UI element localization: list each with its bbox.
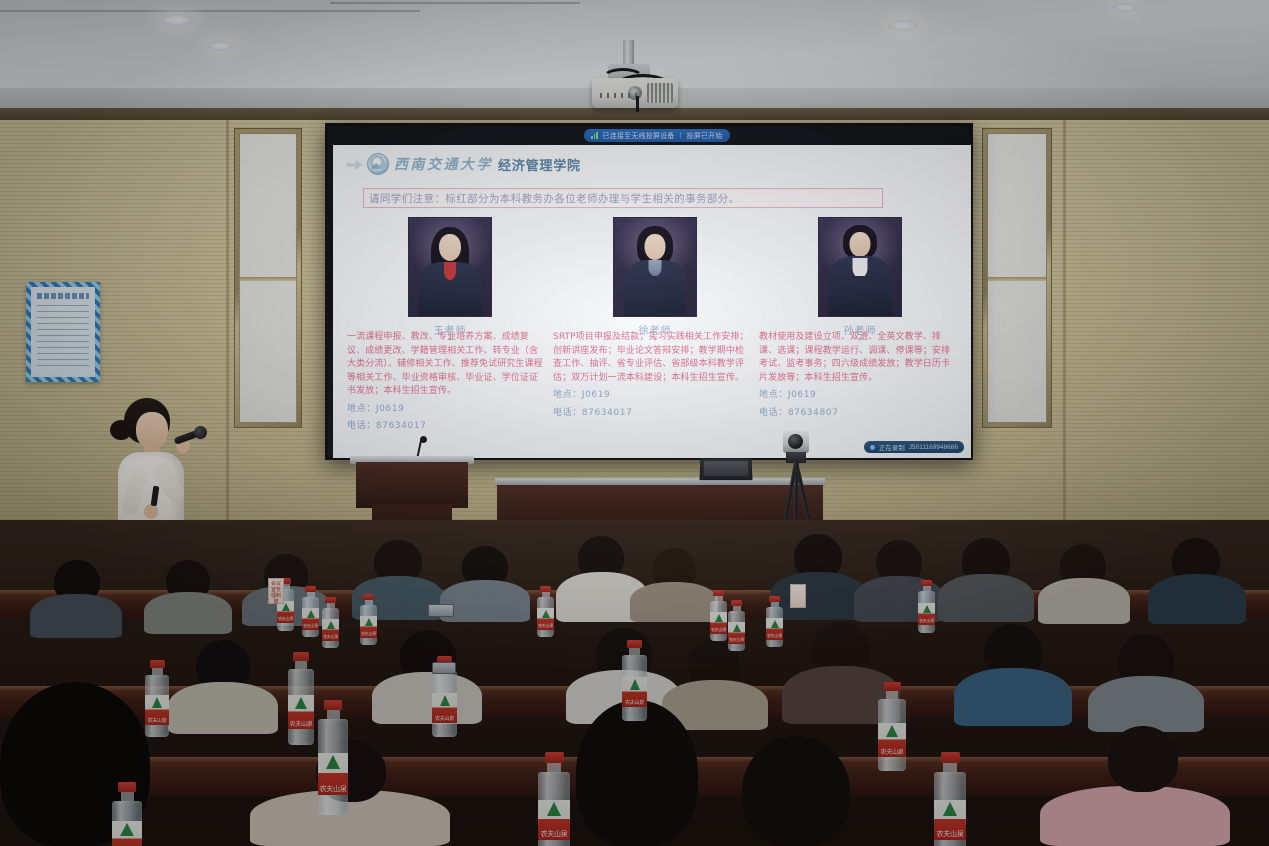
- whiteboard-panel-right: [982, 128, 1052, 428]
- ceiling-projector-icon: [592, 78, 678, 108]
- bottle-brand: 农夫山泉: [537, 623, 554, 629]
- pine-tree-icon: [715, 614, 723, 622]
- pine-tree-icon: [923, 605, 931, 613]
- bottle-label: 农夫山泉: [112, 821, 142, 846]
- bottle-brand: 农夫山泉: [432, 715, 457, 722]
- presenter-hand-left: [144, 504, 158, 519]
- water-bottle: 农夫山泉: [112, 782, 142, 846]
- duty-column-3: 教材使用及建设立项、双语、全英文教学、排课、选课；课程教学运行、调课、停课等；安…: [759, 331, 955, 434]
- portrait-row: 王老师 徐老师: [355, 217, 955, 341]
- pine-tree-icon: [630, 679, 640, 690]
- bottle-cap: [324, 700, 342, 710]
- duty-text-2: SRTP项目申报及结款；实习实践相关工作安排；创新讲座发布；毕业论文答辩安排；教…: [553, 331, 749, 385]
- duty-column-1: 一流课程申报、教改、专业培养方案、成绩复议、成绩更改、学籍管理相关工作、转专业（…: [347, 331, 543, 434]
- teacher-portrait-2: [613, 217, 697, 317]
- audience-head: [576, 700, 698, 846]
- teacher-portrait-3: [818, 217, 902, 317]
- bottle-body: 农夫山泉: [538, 772, 570, 846]
- audience-shoulders: [168, 682, 278, 734]
- bottle-body: 农夫山泉: [145, 675, 169, 737]
- pine-tree-icon: [307, 610, 315, 618]
- duty-text-1: 一流课程申报、教改、专业培养方案、成绩复议、成绩更改、学籍管理相关工作、转专业（…: [347, 331, 543, 399]
- microphone-head: [194, 426, 207, 439]
- whiteboard-surface-left: [239, 133, 297, 423]
- bottle-cap: [293, 652, 309, 661]
- bottle-body: 农夫山泉: [918, 591, 935, 633]
- university-seal-icon: [367, 153, 389, 175]
- pine-tree-icon: [943, 802, 957, 816]
- water-bottle: 农夫山泉: [145, 660, 169, 737]
- location-row-3: 地点：J0619: [759, 389, 955, 403]
- duty-text-3: 教材使用及建设立项、双语、全英文教学、排课、选课；课程教学运行、调课、停课等；安…: [759, 331, 955, 385]
- water-bottle: 农夫山泉: [934, 752, 966, 846]
- bottle-body: 农夫山泉: [537, 597, 554, 637]
- wall-poster: [26, 282, 100, 382]
- bottle-label: 农夫山泉: [934, 800, 966, 840]
- location-value-2: J0619: [582, 390, 611, 400]
- bottle-brand: 农夫山泉: [728, 637, 745, 643]
- water-bottle: 农夫山泉: [538, 752, 570, 846]
- pine-tree-icon: [440, 695, 450, 706]
- recessed-downlight-icon: [207, 41, 233, 51]
- bottle-label: 农夫山泉: [537, 608, 554, 630]
- water-bottle: 农夫山泉: [878, 682, 906, 771]
- recording-label: 正在录制: [879, 442, 905, 452]
- pine-tree-icon: [295, 697, 307, 709]
- audience-head: [742, 736, 850, 846]
- location-row-2: 地点：J0619: [553, 389, 749, 403]
- bottle-cap: [545, 752, 564, 763]
- university-name: 西南交通大学: [394, 154, 493, 174]
- bottle-label: 农夫山泉: [360, 616, 377, 638]
- bottle-label: 农夫山泉: [710, 612, 727, 634]
- audience-shoulders: [954, 668, 1072, 726]
- pine-tree-icon: [886, 725, 898, 737]
- location-label-3: 地点：: [759, 390, 788, 400]
- teacher-card-1: 王老师: [355, 217, 545, 341]
- teacher-card-2: 徐老师: [560, 217, 750, 341]
- duty-column-2: SRTP项目申报及结款；实习实践相关工作安排；创新讲座发布；毕业论文答辩安排；教…: [553, 331, 749, 434]
- name-card-text: 会议室管理制度: [269, 579, 283, 605]
- pine-tree-icon: [542, 610, 550, 618]
- phone-value-1: 87634017: [376, 421, 427, 431]
- desk-name-card: [790, 584, 806, 608]
- bottle-neck: [943, 763, 957, 772]
- bottle-body: 农夫山泉: [878, 699, 906, 771]
- bottle-cap: [627, 640, 642, 648]
- water-bottle: 农夫山泉: [710, 590, 727, 641]
- bottle-body: 农夫山泉: [934, 772, 966, 846]
- college-name: 经济管理学院: [498, 155, 581, 174]
- bottle-label: 农夫山泉: [302, 608, 319, 630]
- bottle-body: 农夫山泉: [432, 671, 457, 737]
- pine-tree-icon: [547, 802, 561, 816]
- notice-banner: 请同学们注意：标红部分为本科教务办各位老师办理与学生相关的事务部分。: [363, 188, 883, 208]
- recessed-downlight-icon: [1112, 3, 1138, 12]
- teacher-card-3: 孙老师: [765, 217, 955, 341]
- bottle-body: 农夫山泉: [318, 719, 348, 815]
- mobile-phone: [432, 662, 456, 674]
- bottle-body: 农夫山泉: [710, 601, 727, 641]
- bottle-body: 农夫山泉: [288, 669, 314, 745]
- laptop-screen: [704, 461, 749, 476]
- bottle-label: 农夫山泉: [318, 753, 348, 795]
- bottle-cap: [118, 782, 136, 792]
- tripod-camera-icon: [783, 431, 809, 453]
- phone-value-2: 87634017: [582, 408, 633, 418]
- lectern-icon: [356, 462, 468, 508]
- arrow-right-icon: [347, 157, 362, 171]
- phone-label-3: 电话：: [759, 408, 788, 418]
- location-value-1: J0619: [376, 404, 405, 414]
- bottle-label: 农夫山泉: [288, 695, 314, 729]
- bottle-neck: [121, 792, 134, 801]
- notification-secondary: 投屏已开始: [687, 131, 723, 141]
- bottle-neck: [327, 710, 340, 719]
- pine-tree-icon: [733, 624, 741, 632]
- location-row-1: 地点：J0619: [347, 403, 543, 417]
- recording-code: J5011169948686: [909, 444, 958, 451]
- recessed-downlight-icon: [160, 14, 194, 26]
- audience-shoulders: [30, 594, 122, 638]
- audience-shoulders: [1088, 676, 1204, 732]
- bottle-brand: 农夫山泉: [318, 784, 348, 794]
- bottle-neck: [152, 668, 163, 675]
- bottle-brand: 农夫山泉: [360, 631, 377, 637]
- pine-tree-icon: [327, 621, 335, 629]
- phone-row-2: 电话：87634017: [553, 407, 749, 421]
- bottle-cap: [941, 752, 960, 763]
- bottle-label: 农夫山泉: [622, 677, 647, 707]
- duty-columns: 一流课程申报、教改、专业培养方案、成绩复议、成绩更改、学籍管理相关工作、转专业（…: [347, 331, 961, 434]
- phone-label-2: 电话：: [553, 408, 582, 418]
- notification-separator: |: [680, 132, 682, 139]
- notice-text: 请同学们注意：标红部分为本科教务办各位老师办理与学生相关的事务部分。: [369, 191, 740, 206]
- bottle-label: 农夫山泉: [538, 800, 570, 840]
- bottle-cap: [884, 682, 901, 691]
- laptop-icon: [699, 458, 752, 480]
- notification-text: 已连接至无线投屏设备: [603, 131, 675, 141]
- audience-shoulders: [1040, 786, 1230, 846]
- audience-shoulders: [630, 582, 718, 622]
- presenter-hair-bun: [110, 420, 132, 440]
- water-bottle: 农夫山泉: [766, 596, 783, 647]
- record-icon: [870, 445, 875, 450]
- wall-seam: [226, 108, 229, 578]
- audience-shoulders: [938, 574, 1034, 622]
- projector-cable-drop: [636, 96, 639, 112]
- recording-status-badge: 正在录制 J5011169948686: [864, 441, 964, 453]
- bottle-label: 农夫山泉: [878, 723, 906, 757]
- bottle-brand: 农夫山泉: [622, 699, 647, 706]
- bottle-brand: 农夫山泉: [538, 829, 570, 839]
- lecture-hall-photo: 已连接至无线投屏设备 | 投屏已开始 西南交通大学 经济管理学院 请同学们注意：…: [0, 0, 1269, 846]
- desk-name-card: 会议室管理制度: [268, 578, 284, 604]
- bottle-label: 农夫山泉: [322, 619, 339, 641]
- water-bottle: 农夫山泉: [288, 652, 314, 745]
- water-bottle: 农夫山泉: [728, 600, 745, 651]
- bottle-cap: [150, 660, 165, 668]
- pine-tree-icon: [771, 620, 779, 628]
- water-bottle: 农夫山泉: [360, 594, 377, 645]
- signal-bars-icon: [591, 132, 598, 139]
- location-label-1: 地点：: [347, 404, 376, 414]
- projector-indicator-lights: [600, 93, 640, 98]
- bottle-brand: 农夫山泉: [934, 829, 966, 839]
- water-bottle: 农夫山泉: [918, 580, 935, 633]
- teacher-portrait-1: [408, 217, 492, 317]
- projector-vent: [647, 83, 673, 103]
- ceiling-seam: [330, 2, 580, 4]
- bottle-label: 农夫山泉: [145, 695, 169, 725]
- water-bottle: 农夫山泉: [302, 586, 319, 637]
- bottle-brand: 农夫山泉: [710, 627, 727, 633]
- whiteboard-panel-left: [234, 128, 302, 428]
- phone-row-1: 电话：87634017: [347, 420, 543, 434]
- lectern-microphone-head: [420, 436, 427, 443]
- whiteboard-surface-right: [987, 133, 1047, 423]
- phone-label-1: 电话：: [347, 421, 376, 431]
- bottle-body: 农夫山泉: [766, 607, 783, 647]
- camera-lens-icon: [788, 434, 803, 449]
- pine-tree-icon: [120, 823, 134, 836]
- phone-value-3: 87634807: [788, 408, 839, 418]
- pine-tree-icon: [365, 618, 373, 626]
- recessed-downlight-icon: [888, 20, 918, 31]
- audience-head: [1108, 726, 1178, 792]
- bottle-label: 农夫山泉: [766, 618, 783, 640]
- water-bottle: 农夫山泉: [322, 597, 339, 648]
- bottle-neck: [886, 691, 898, 699]
- audience-shoulders: [1148, 574, 1246, 624]
- water-bottle: 农夫山泉: [622, 640, 647, 721]
- bottle-brand: 农夫山泉: [766, 633, 783, 639]
- audience-shoulders: [372, 672, 482, 724]
- location-value-3: J0619: [788, 390, 817, 400]
- bottle-label: 农夫山泉: [918, 603, 935, 625]
- bottle-brand: 农夫山泉: [878, 747, 906, 756]
- wall-trim: [0, 108, 1269, 120]
- bottle-neck: [295, 661, 307, 669]
- audience-shoulders: [1038, 578, 1130, 624]
- water-bottle: 农夫山泉: [537, 586, 554, 637]
- slide-header: 西南交通大学 经济管理学院: [347, 153, 581, 175]
- bottle-brand: 农夫山泉: [302, 623, 319, 629]
- mobile-phone: [428, 604, 454, 617]
- wall-seam: [1063, 108, 1066, 578]
- bottle-body: 农夫山泉: [622, 655, 647, 721]
- bottle-brand: 农夫山泉: [145, 717, 169, 724]
- screencast-notification: 已连接至无线投屏设备 | 投屏已开始: [584, 129, 730, 142]
- bottle-label: 农夫山泉: [728, 622, 745, 644]
- bottle-body: 农夫山泉: [728, 611, 745, 651]
- bottle-brand: 农夫山泉: [322, 634, 339, 640]
- location-label-2: 地点：: [553, 390, 582, 400]
- bottle-brand: 农夫山泉: [288, 719, 314, 728]
- bottle-body: 农夫山泉: [112, 801, 142, 846]
- audience-shoulders: [144, 592, 232, 634]
- bottle-body: 农夫山泉: [322, 608, 339, 648]
- bottle-neck: [547, 763, 561, 772]
- bottle-brand: 农夫山泉: [918, 618, 935, 624]
- pine-tree-icon: [152, 697, 162, 708]
- bottle-body: 农夫山泉: [302, 597, 319, 637]
- pine-tree-icon: [326, 755, 340, 769]
- bottle-body: 农夫山泉: [360, 605, 377, 645]
- bottle-label: 农夫山泉: [432, 693, 457, 723]
- ceiling-seam: [0, 10, 420, 12]
- bottle-neck: [629, 648, 640, 655]
- slide-content: 西南交通大学 经济管理学院 请同学们注意：标红部分为本科教务办各位老师办理与学生…: [333, 145, 971, 458]
- phone-row-3: 电话：87634807: [759, 407, 955, 421]
- projection-screen: 已连接至无线投屏设备 | 投屏已开始 西南交通大学 经济管理学院 请同学们注意：…: [325, 123, 973, 460]
- audience-shoulders: [770, 572, 866, 620]
- water-bottle: 农夫山泉: [318, 700, 348, 815]
- bottle-brand: 农夫山泉: [277, 616, 294, 622]
